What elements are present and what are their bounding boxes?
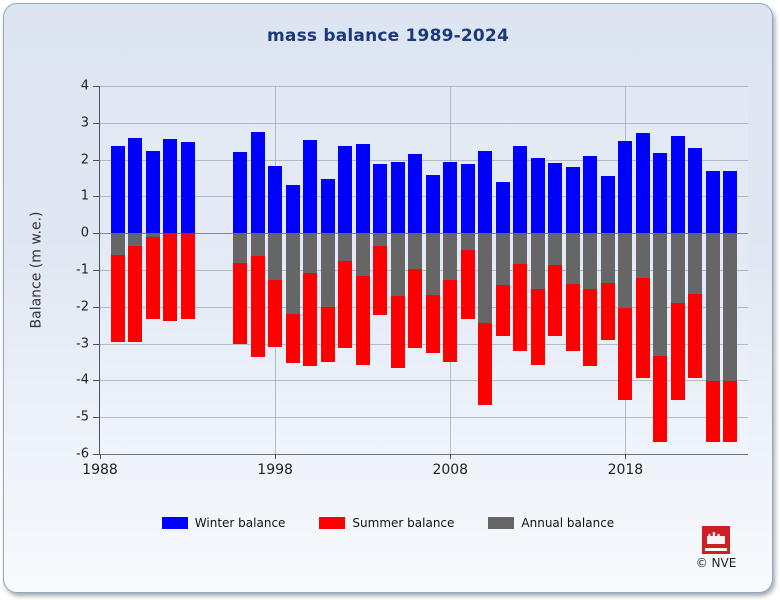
y-tick (93, 233, 100, 234)
bar-summer-balance (146, 233, 160, 319)
y-tick (93, 196, 100, 197)
bar-winter-balance (268, 166, 282, 233)
bar-winter-balance (548, 163, 562, 234)
bar-annual-balance (321, 233, 335, 307)
bar-annual-balance (233, 233, 247, 262)
y-tick (93, 417, 100, 418)
bar-winter-balance (408, 154, 422, 233)
bar-annual-balance (461, 233, 475, 250)
y-tick (93, 86, 100, 87)
bar-annual-balance (303, 233, 317, 272)
bar-group (443, 86, 457, 454)
bar-annual-balance (636, 233, 650, 278)
bar-annual-balance (653, 233, 667, 356)
bar-annual-balance (251, 233, 265, 256)
bar-winter-balance (478, 151, 492, 233)
bar-group (128, 86, 142, 454)
bar-winter-balance (163, 139, 177, 234)
bar-group (618, 86, 632, 454)
bar-annual-balance (356, 233, 370, 276)
bar-winter-balance (496, 182, 510, 233)
legend-swatch-icon (162, 517, 188, 529)
bar-summer-balance (181, 233, 195, 318)
y-tick (93, 454, 100, 455)
bar-group (531, 86, 545, 454)
bar-winter-balance (146, 151, 160, 233)
bar-group (461, 86, 475, 454)
bar-annual-balance (268, 233, 282, 280)
y-tick-label: -3 (76, 336, 89, 351)
bar-group (723, 86, 737, 454)
bar-winter-balance (653, 153, 667, 233)
gridline-y (100, 380, 748, 381)
x-tick-label: 1988 (82, 462, 118, 478)
bar-group (356, 86, 370, 454)
y-tick (93, 160, 100, 161)
y-tick (93, 344, 100, 345)
bar-winter-balance (531, 158, 545, 233)
bar-group (688, 86, 702, 454)
y-tick (93, 270, 100, 271)
x-tick-label: 2008 (432, 462, 468, 478)
y-tick-label: 4 (81, 79, 89, 94)
bar-annual-balance (408, 233, 422, 268)
copyright-text: © NVE (686, 556, 746, 570)
bar-group (163, 86, 177, 454)
y-axis-label: Balance (m w.e.) (26, 86, 46, 454)
page-title: mass balance 1989-2024 (4, 26, 772, 46)
bar-winter-balance (443, 162, 457, 233)
bar-group (286, 86, 300, 454)
y-tick-label: 1 (81, 189, 89, 204)
crest-base (705, 548, 727, 551)
bar-annual-balance (513, 233, 527, 264)
x-axis-line (99, 454, 748, 455)
bar-group (706, 86, 720, 454)
bar-group (268, 86, 282, 454)
bar-winter-balance (566, 167, 580, 234)
bar-annual-balance (128, 233, 142, 246)
bar-winter-balance (338, 146, 352, 233)
bar-group (321, 86, 335, 454)
y-tick-label: -1 (76, 263, 89, 278)
y-tick-label: -5 (76, 410, 89, 425)
bar-annual-balance (426, 233, 440, 295)
bar-winter-balance (618, 141, 632, 233)
y-tick-label: 3 (81, 115, 89, 130)
bar-group (566, 86, 580, 454)
bar-winter-balance (723, 171, 737, 233)
bar-winter-balance (688, 148, 702, 233)
x-tick (100, 454, 101, 459)
bar-annual-balance (111, 233, 125, 254)
bar-winter-balance (321, 179, 335, 233)
bar-group (513, 86, 527, 454)
bar-annual-balance (338, 233, 352, 261)
legend-swatch-icon (319, 517, 345, 529)
bar-group (408, 86, 422, 454)
bar-annual-balance (496, 233, 510, 285)
y-tick (93, 380, 100, 381)
bar-winter-balance (356, 144, 370, 233)
gridline-y (100, 196, 748, 197)
bar-group (338, 86, 352, 454)
bar-annual-balance (566, 233, 580, 284)
bar-summer-balance (163, 233, 177, 321)
bar-winter-balance (601, 176, 615, 233)
bar-annual-balance (443, 233, 457, 279)
bar-winter-balance (426, 175, 440, 233)
bar-group (601, 86, 615, 454)
bar-group (391, 86, 405, 454)
bar-winter-balance (671, 136, 685, 233)
bar-winter-balance (286, 185, 300, 234)
bar-winter-balance (636, 133, 650, 233)
bar-winter-balance (111, 146, 125, 233)
legend-label: Annual balance (521, 516, 614, 530)
x-tick (450, 454, 451, 459)
y-axis-label-text: Balance (m w.e.) (28, 212, 44, 329)
bar-group (251, 86, 265, 454)
bar-group (303, 86, 317, 454)
legend-label: Summer balance (352, 516, 454, 530)
bar-annual-balance (146, 233, 160, 237)
legend-item: Annual balance (488, 516, 614, 530)
bar-annual-balance (391, 233, 405, 296)
bar-annual-balance (286, 233, 300, 314)
bar-summer-balance (128, 233, 142, 342)
bar-group (373, 86, 387, 454)
bar-winter-balance (128, 138, 142, 234)
bar-group (233, 86, 247, 454)
y-tick (93, 123, 100, 124)
legend-swatch-icon (488, 517, 514, 529)
gridline-y (100, 307, 748, 308)
gridline-y (100, 270, 748, 271)
bar-winter-balance (303, 140, 317, 233)
y-tick-label: 2 (81, 152, 89, 167)
bar-group (496, 86, 510, 454)
y-tick-label: 0 (81, 226, 89, 241)
bar-winter-balance (461, 164, 475, 234)
chart-legend: Winter balanceSummer balanceAnnual balan… (4, 516, 772, 530)
bar-annual-balance (583, 233, 597, 289)
bar-winter-balance (233, 152, 247, 233)
bar-group (583, 86, 597, 454)
castle-glyph (707, 531, 725, 544)
legend-item: Summer balance (319, 516, 454, 530)
bar-annual-balance (478, 233, 492, 323)
x-tick (625, 454, 626, 459)
bar-annual-balance (373, 233, 387, 246)
bar-group (426, 86, 440, 454)
bar-winter-balance (373, 164, 387, 233)
plot-area: 43210-1-2-3-4-5-61988199820082018 (100, 86, 748, 454)
bar-group (111, 86, 125, 454)
bar-annual-balance (688, 233, 702, 294)
bar-annual-balance (548, 233, 562, 265)
bar-winter-balance (181, 142, 195, 233)
y-tick-label: -4 (76, 373, 89, 388)
bar-group (478, 86, 492, 454)
bar-group (146, 86, 160, 454)
bar-winter-balance (583, 156, 597, 233)
x-tick-label: 1998 (257, 462, 293, 478)
gridline-y (100, 344, 748, 345)
x-tick-label: 2018 (608, 462, 644, 478)
gridline-y (100, 123, 748, 124)
y-tick-label: -2 (76, 299, 89, 314)
bar-group (548, 86, 562, 454)
bar-winter-balance (706, 171, 720, 233)
bar-annual-balance (706, 233, 720, 381)
bar-annual-balance (723, 233, 737, 381)
legend-item: Winter balance (162, 516, 286, 530)
zero-line (100, 233, 748, 234)
gridline-y (100, 417, 748, 418)
bar-winter-balance (513, 146, 527, 233)
bar-annual-balance (671, 233, 685, 303)
bar-group (653, 86, 667, 454)
bar-group (636, 86, 650, 454)
bar-winter-balance (391, 162, 405, 233)
x-tick (275, 454, 276, 459)
nve-logo: © NVE (686, 526, 746, 570)
chart-panel: mass balance 1989-2024 Balance (m w.e.) … (3, 3, 773, 593)
bar-winter-balance (251, 132, 265, 233)
y-tick (93, 307, 100, 308)
y-tick-label: -6 (76, 447, 89, 462)
bar-group (671, 86, 685, 454)
bar-annual-balance (601, 233, 615, 283)
bar-annual-balance (531, 233, 545, 289)
gridline-y (100, 160, 748, 161)
nve-crest-icon (702, 526, 730, 554)
gridline-y (100, 86, 748, 87)
legend-label: Winter balance (195, 516, 286, 530)
bar-annual-balance (618, 233, 632, 308)
bar-group (181, 86, 195, 454)
